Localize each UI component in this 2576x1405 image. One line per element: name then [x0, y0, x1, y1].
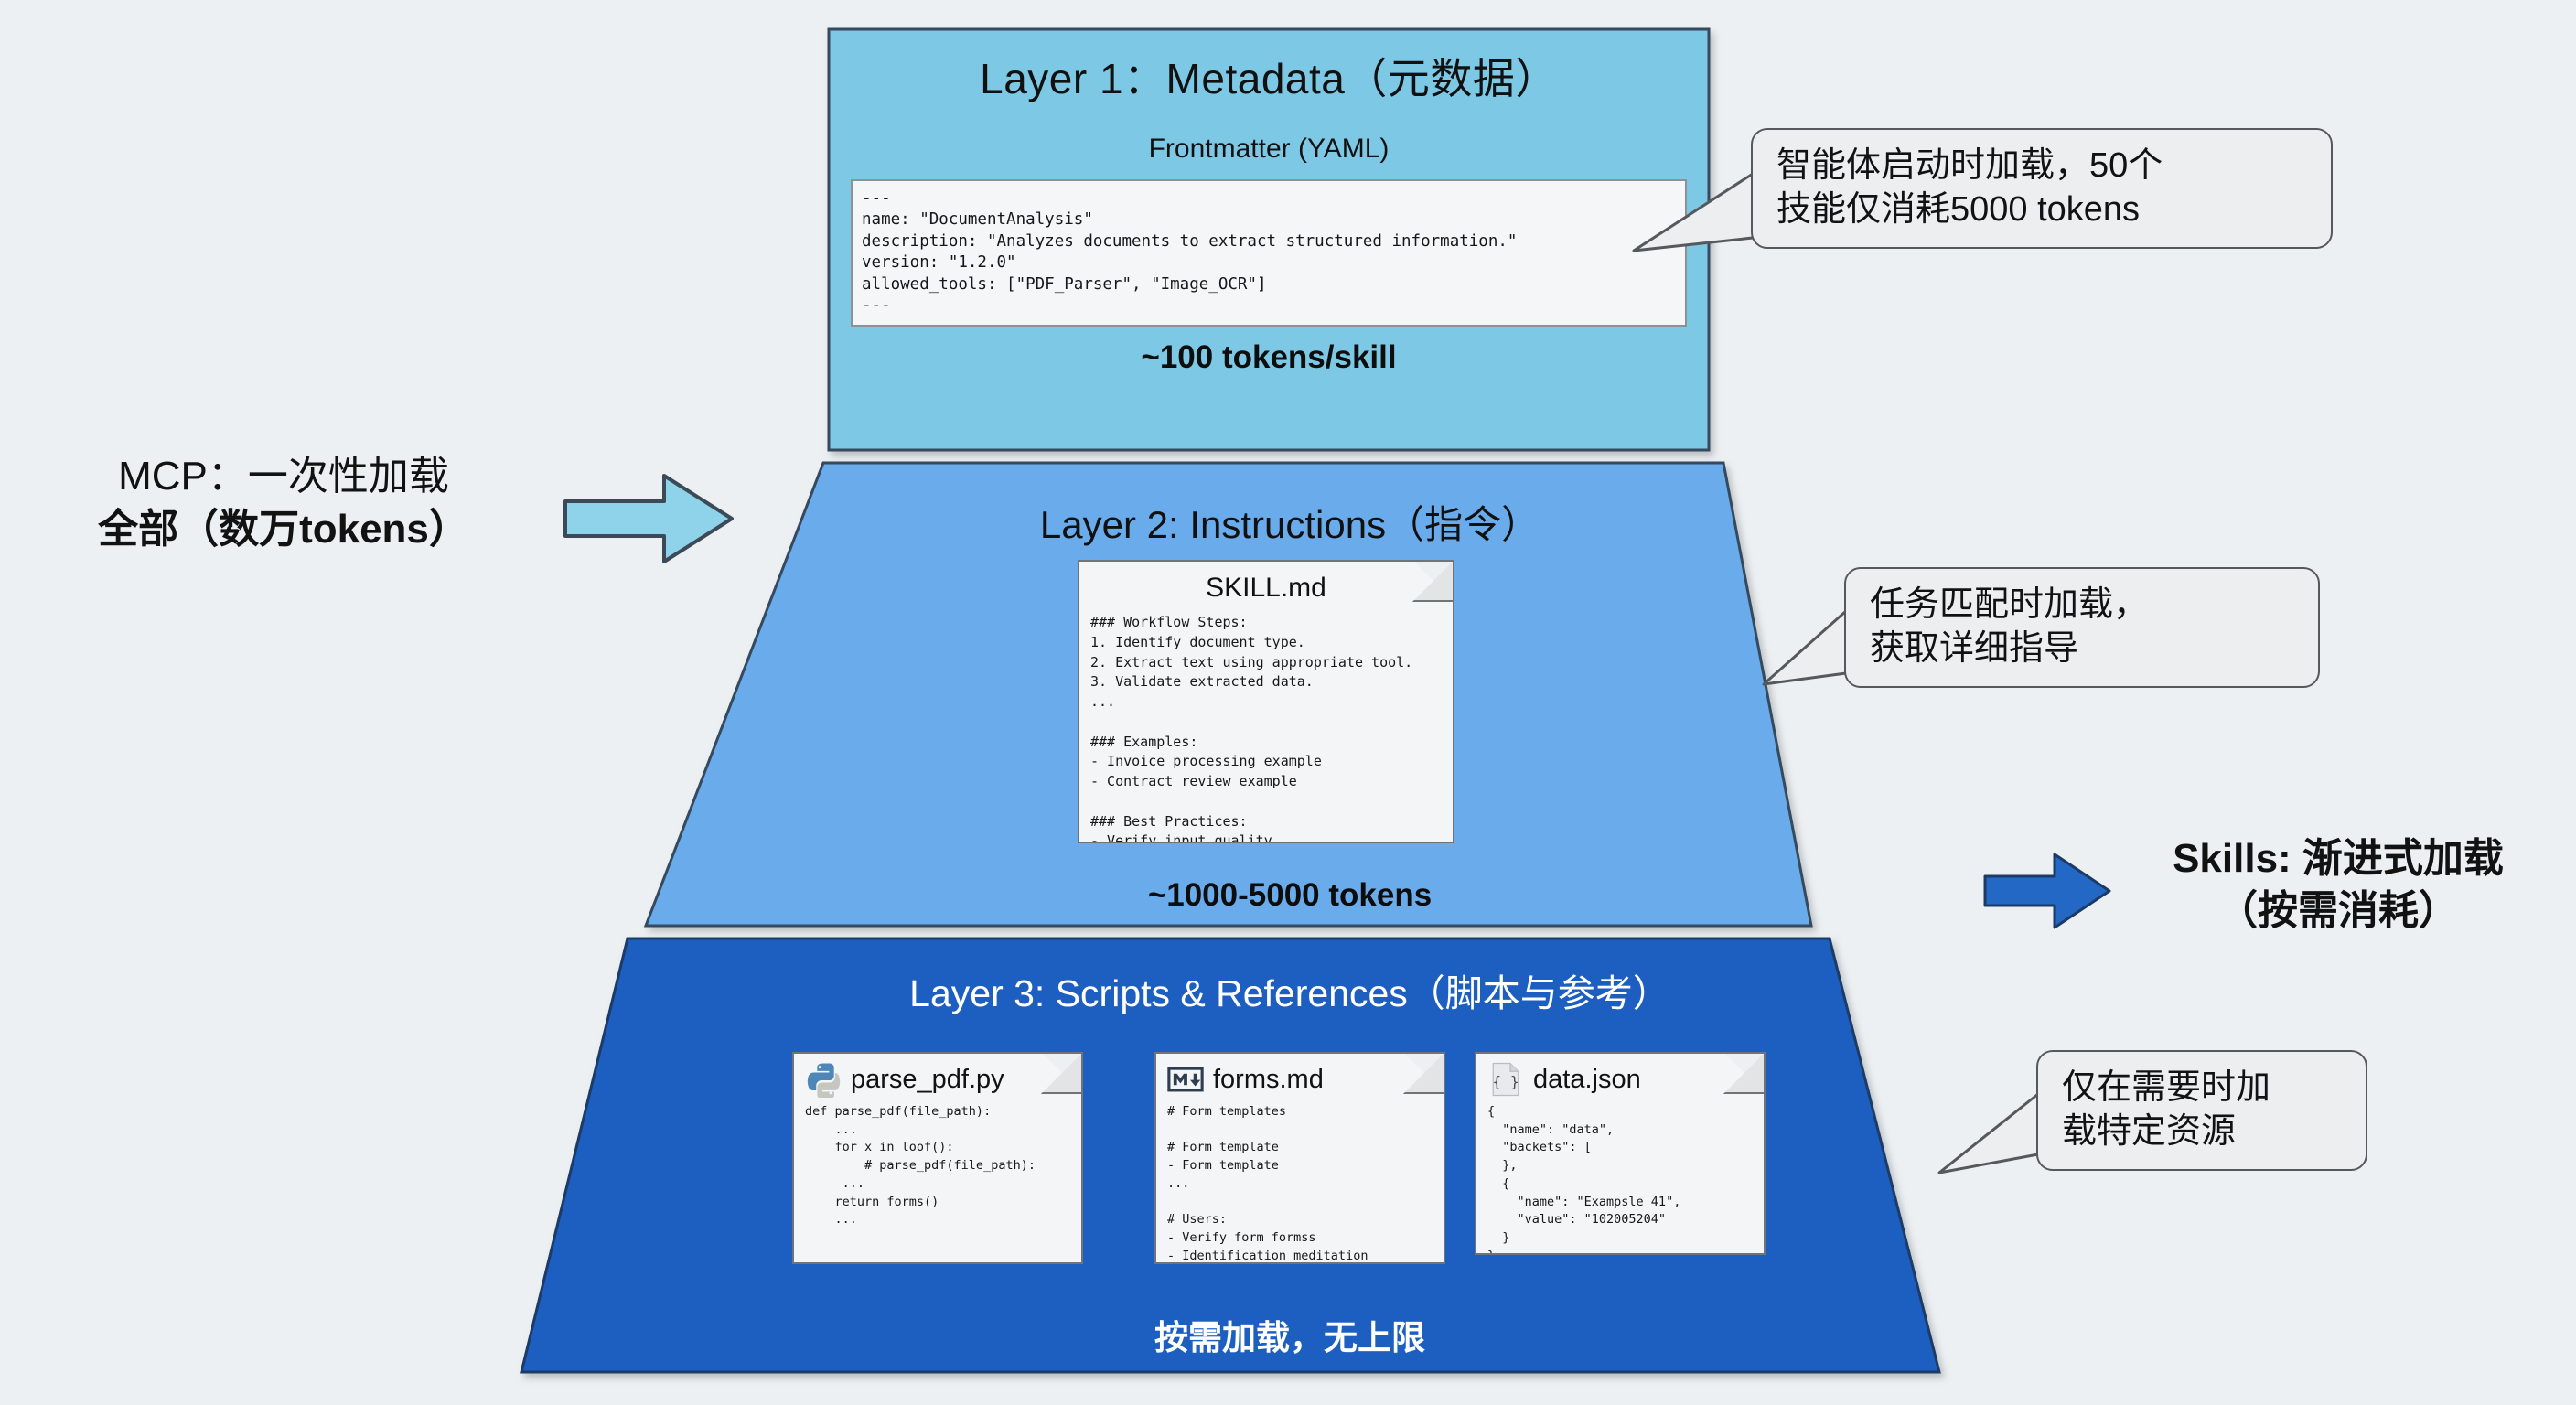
file-name-label: forms.md [1213, 1065, 1324, 1095]
layer3-title: Layer 3: Scripts & References（脚本与参考） [476, 962, 2104, 1017]
skills-label: Skills: 渐进式加载 （按需消耗） [2109, 832, 2567, 937]
layer2-token-cost: ~1000-5000 tokens [640, 877, 1939, 914]
diagram-canvas: Layer 1：Metadata（元数据） Frontmatter (YAML)… [0, 0, 2576, 1405]
svg-text:{ }: { } [1492, 1073, 1519, 1090]
layer1-content: Layer 1：Metadata（元数据） Frontmatter (YAML)… [829, 29, 1709, 376]
callout-layer3: 仅在需要时加 载特定资源 [2036, 1050, 2367, 1171]
skills-label-line2: （按需消耗） [2109, 885, 2567, 937]
markdown-icon [1167, 1061, 1204, 1098]
mcp-label-line2: 全部（数万tokens） [18, 503, 549, 556]
skill-md-note-card: SKILL.md ### Workflow Steps: 1. Identify… [1078, 560, 1454, 843]
skill-md-filename: SKILL.md [1079, 562, 1453, 604]
arrow-right-icon-mcp [562, 468, 735, 569]
callout-layer1-text: 智能体启动时加载，50个 技能仅消耗5000 tokens [1776, 146, 2163, 229]
mcp-label-line1: MCP：一次性加载 [18, 450, 549, 503]
file-content-parse-pdf-py: def parse_pdf(file_path): ... for x in l… [794, 1098, 1081, 1229]
file-content-forms-md: # Form templates # Form template - Form … [1156, 1098, 1444, 1264]
layer3-bottom-text: 按需加载，无上限 [476, 1310, 2104, 1359]
callout-layer3-text: 仅在需要时加 载特定资源 [2062, 1068, 2270, 1151]
callout-layer1: 智能体启动时加载，50个 技能仅消耗5000 tokens [1751, 128, 2333, 249]
file-card-parse-pdf-py: parse_pdf.py def parse_pdf(file_path): .… [792, 1052, 1083, 1264]
python-icon [805, 1061, 842, 1098]
layer2-title: Layer 2: Instructions（指令） [640, 494, 1939, 550]
json-icon: { } [1487, 1061, 1524, 1098]
callout-layer2-text: 任务匹配时加载， 获取详细指导 [1870, 585, 2148, 668]
mcp-label: MCP：一次性加载 全部（数万tokens） [18, 450, 549, 556]
skill-md-content: ### Workflow Steps: 1. Identify document… [1079, 604, 1453, 843]
skills-label-line1: Skills: 渐进式加载 [2109, 832, 2567, 885]
file-name-label: data.json [1533, 1065, 1641, 1095]
callout-layer2: 任务匹配时加载， 获取详细指导 [1844, 567, 2320, 688]
file-content-data-json: { "name": "data", "backets": [ }, { "nam… [1476, 1098, 1764, 1255]
layer1-token-cost: ~100 tokens/skill [829, 339, 1709, 376]
file-card-data-json: { } data.json { "name": "data", "backets… [1475, 1052, 1766, 1255]
layer1-title: Layer 1：Metadata（元数据） [829, 46, 1709, 106]
file-card-forms-md: forms.md # Form templates # Form templat… [1154, 1052, 1445, 1264]
frontmatter-code-block: --- name: "DocumentAnalysis" description… [851, 179, 1687, 327]
arrow-right-icon-skills [1983, 849, 2111, 933]
layer1-subtitle: Frontmatter (YAML) [829, 134, 1709, 165]
file-name-label: parse_pdf.py [851, 1065, 1004, 1095]
